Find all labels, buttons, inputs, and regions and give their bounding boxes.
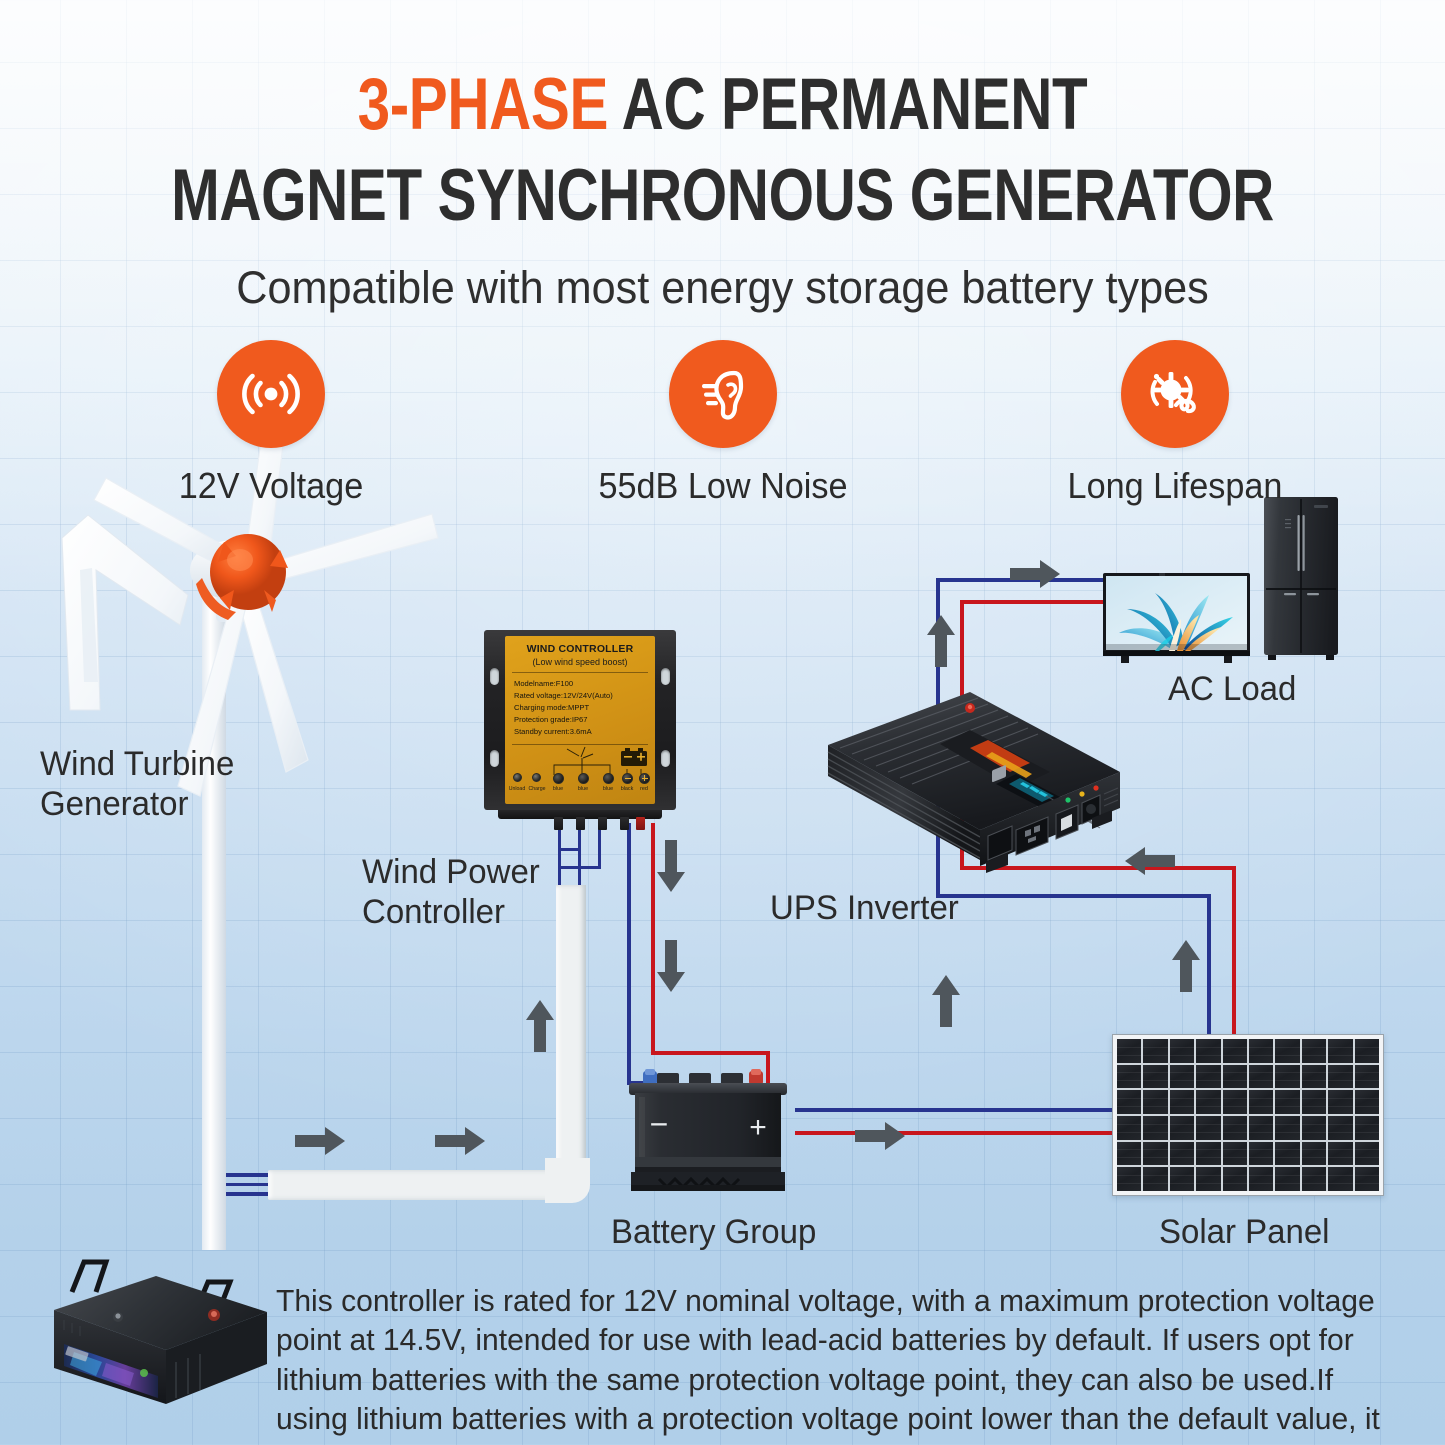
solar-cell-grid <box>1117 1039 1379 1191</box>
controller-spec-1: Rated voltage:12V/24V(Auto) <box>505 690 655 702</box>
solar-cell <box>1170 1039 1194 1063</box>
disclaimer-text: This controller is rated for 12V nominal… <box>276 1282 1394 1445</box>
solar-cell <box>1143 1065 1167 1089</box>
solar-cell <box>1302 1167 1326 1191</box>
label-battery-group: Battery Group <box>611 1212 816 1252</box>
feature-item-lifespan: Long Lifespan <box>1040 340 1310 507</box>
solar-cell <box>1143 1142 1167 1166</box>
conduit-vertical <box>556 885 586 1185</box>
solar-cell <box>1249 1167 1273 1191</box>
feature-label-lifespan: Long Lifespan <box>1046 465 1303 507</box>
solar-cell <box>1143 1090 1167 1114</box>
solar-cell <box>1223 1167 1247 1191</box>
label-ups-inverter: UPS Inverter <box>770 888 959 928</box>
controller-mount-hole-br <box>661 750 670 767</box>
solar-cell <box>1328 1142 1352 1166</box>
controller-faceplate: WIND CONTROLLER (Low wind speed boost) M… <box>505 636 655 804</box>
solar-cell <box>1275 1065 1299 1089</box>
lifespan-gear-icon <box>1121 340 1229 448</box>
controller-terminal-red <box>639 773 650 784</box>
solar-panel <box>1112 1034 1384 1196</box>
signal-waves-icon <box>217 340 325 448</box>
solar-cell <box>1170 1116 1194 1140</box>
lithium-battery <box>48 1252 273 1420</box>
battery-group: − + <box>621 1067 795 1201</box>
solar-cell <box>1196 1167 1220 1191</box>
solar-cell <box>1170 1090 1194 1114</box>
label-wind-turbine: Wind Turbine Generator <box>40 744 234 824</box>
battery-positive-symbol: + <box>749 1111 767 1144</box>
feature-label-voltage: 12V Voltage <box>142 465 399 507</box>
controller-mount-hole-bl <box>490 750 499 767</box>
solar-cell <box>1302 1039 1326 1063</box>
title-highlight: 3-PHASE <box>358 64 608 145</box>
battery-negative-terminal <box>643 1069 657 1085</box>
ear-low-noise-icon <box>669 340 777 448</box>
page-title-line1: 3-PHASE AC PERMANENT <box>145 68 1301 141</box>
feature-item-voltage: 12V Voltage <box>136 340 406 507</box>
solar-cell <box>1275 1116 1299 1140</box>
wind-power-controller: WIND CONTROLLER (Low wind speed boost) M… <box>484 622 676 822</box>
solar-cell <box>1143 1116 1167 1140</box>
solar-cell <box>1196 1039 1220 1063</box>
solar-cell <box>1223 1142 1247 1166</box>
solar-cell <box>1223 1065 1247 1089</box>
controller-blue-wire-a <box>558 823 561 887</box>
solar-cell <box>1249 1090 1273 1114</box>
solar-cell <box>1117 1065 1141 1089</box>
conduit-elbow <box>545 1158 590 1203</box>
controller-blue-join <box>558 866 601 869</box>
flow-arrow-inverter-to-acload-up <box>925 615 957 667</box>
controller-negative-wire-v <box>627 823 631 1085</box>
controller-terminal-label-4: red <box>631 786 655 792</box>
flow-arrow-solar-up <box>1170 940 1202 992</box>
wind-turbine-generator <box>40 420 460 1250</box>
controller-spec-2: Charging mode:MPPT <box>505 702 655 714</box>
solar-cell <box>1170 1167 1194 1191</box>
controller-terminal-blue-1 <box>553 773 564 784</box>
solar-cell <box>1355 1167 1379 1191</box>
controller-title: WIND CONTROLLER <box>505 643 655 655</box>
feature-label-noise: 55dB Low Noise <box>594 465 851 507</box>
solar-cell <box>1275 1039 1299 1063</box>
controller-blue-wire-b <box>578 823 581 887</box>
solar-cell <box>1275 1167 1299 1191</box>
solar-cell <box>1302 1065 1326 1089</box>
controller-led-charge <box>532 773 541 782</box>
solar-cell <box>1117 1167 1141 1191</box>
flow-arrow-controller-down-1 <box>655 840 687 892</box>
label-ac-load: AC Load <box>1168 669 1296 709</box>
solar-cell <box>1328 1167 1352 1191</box>
feature-list: 12V Voltage 55dB Low Noise <box>0 340 1445 507</box>
controller-mount-hole-tr <box>661 668 670 685</box>
solar-cell <box>1355 1142 1379 1166</box>
solar-cell <box>1117 1039 1141 1063</box>
page-title-line2: MAGNET SYNCHRONOUS GENERATOR <box>145 159 1301 232</box>
solar-cell <box>1143 1167 1167 1191</box>
controller-led-unload <box>513 773 522 782</box>
solar-cell <box>1302 1090 1326 1114</box>
controller-positive-wire-h <box>651 1051 770 1055</box>
solar-cell <box>1170 1065 1194 1089</box>
solar-cell <box>1302 1116 1326 1140</box>
solar-cell <box>1275 1090 1299 1114</box>
solar-cell <box>1196 1090 1220 1114</box>
ups-inverter <box>820 690 1140 875</box>
solar-cell <box>1328 1065 1352 1089</box>
tv-red-lead <box>960 600 1103 604</box>
controller-divider-top <box>512 672 648 673</box>
title-rest: AC PERMANENT <box>608 64 1087 145</box>
solar-cell <box>1117 1142 1141 1166</box>
controller-subtitle: (Low wind speed boost) <box>505 657 655 667</box>
controller-spec-0: Modelname:F100 <box>505 678 655 690</box>
solar-cell <box>1328 1039 1352 1063</box>
controller-terminal-blue-2 <box>578 773 589 784</box>
label-wind-controller: Wind Power Controller <box>362 852 540 932</box>
solar-cell <box>1249 1116 1273 1140</box>
solar-cell <box>1223 1090 1247 1114</box>
controller-plug-5 <box>636 817 645 830</box>
controller-plug-3 <box>598 817 607 830</box>
flow-arrow-controller-down-2 <box>655 940 687 992</box>
feature-item-noise: 55dB Low Noise <box>588 340 858 507</box>
solar-cell <box>1143 1039 1167 1063</box>
battery-positive-terminal <box>749 1069 763 1085</box>
solar-cell <box>1196 1142 1220 1166</box>
refrigerator <box>1264 497 1338 660</box>
controller-terminal-black <box>622 773 633 784</box>
page-subtitle: Compatible with most energy storage batt… <box>29 262 1416 314</box>
solar-cell <box>1328 1116 1352 1140</box>
controller-plug-1 <box>554 817 563 830</box>
controller-terminal-area: Unload Charge blue blue blue black red <box>505 745 655 801</box>
controller-terminal-label-0: blue <box>545 786 571 792</box>
solar-cell <box>1249 1142 1273 1166</box>
flow-arrow-conduit-up <box>524 1000 556 1052</box>
flow-arrow-battery-to-inverter-up <box>930 975 962 1027</box>
solar-cell <box>1249 1039 1273 1063</box>
solar-cell <box>1196 1116 1220 1140</box>
solar-cell <box>1117 1116 1141 1140</box>
controller-blue-join-2 <box>558 848 580 851</box>
solar-cell <box>1275 1142 1299 1166</box>
solar-cell <box>1355 1116 1379 1140</box>
solar-cell <box>1223 1116 1247 1140</box>
controller-terminal-blue-3 <box>603 773 614 784</box>
solar-cell <box>1328 1090 1352 1114</box>
inverter-dc-blue <box>936 894 1211 898</box>
solar-cell <box>1355 1065 1379 1089</box>
controller-spec-3: Protection grade:IP67 <box>505 714 655 726</box>
solar-cell <box>1117 1090 1141 1114</box>
label-solar-panel: Solar Panel <box>1159 1212 1330 1252</box>
battery-glyph <box>621 748 647 775</box>
header: 3-PHASE AC PERMANENT MAGNET SYNCHRONOUS … <box>0 0 1445 314</box>
solar-cell <box>1355 1090 1379 1114</box>
controller-mount-hole-tl <box>490 668 499 685</box>
flow-arrow-acload-right <box>1010 558 1060 590</box>
controller-plug-4 <box>620 817 629 830</box>
solar-cell <box>1302 1142 1326 1166</box>
solar-cell <box>1223 1039 1247 1063</box>
controller-spec-4: Standby current:3.6mA <box>505 726 655 738</box>
solar-cell <box>1170 1142 1194 1166</box>
solar-cell <box>1355 1039 1379 1063</box>
controller-plug-2 <box>576 817 585 830</box>
controller-terminal-label-1: blue <box>570 786 596 792</box>
solar-cell <box>1249 1065 1273 1089</box>
tv-display <box>1103 573 1250 668</box>
battery-negative-symbol: − <box>650 1106 669 1142</box>
solar-cell <box>1196 1065 1220 1089</box>
flow-arrow-battery-right <box>855 1120 905 1152</box>
